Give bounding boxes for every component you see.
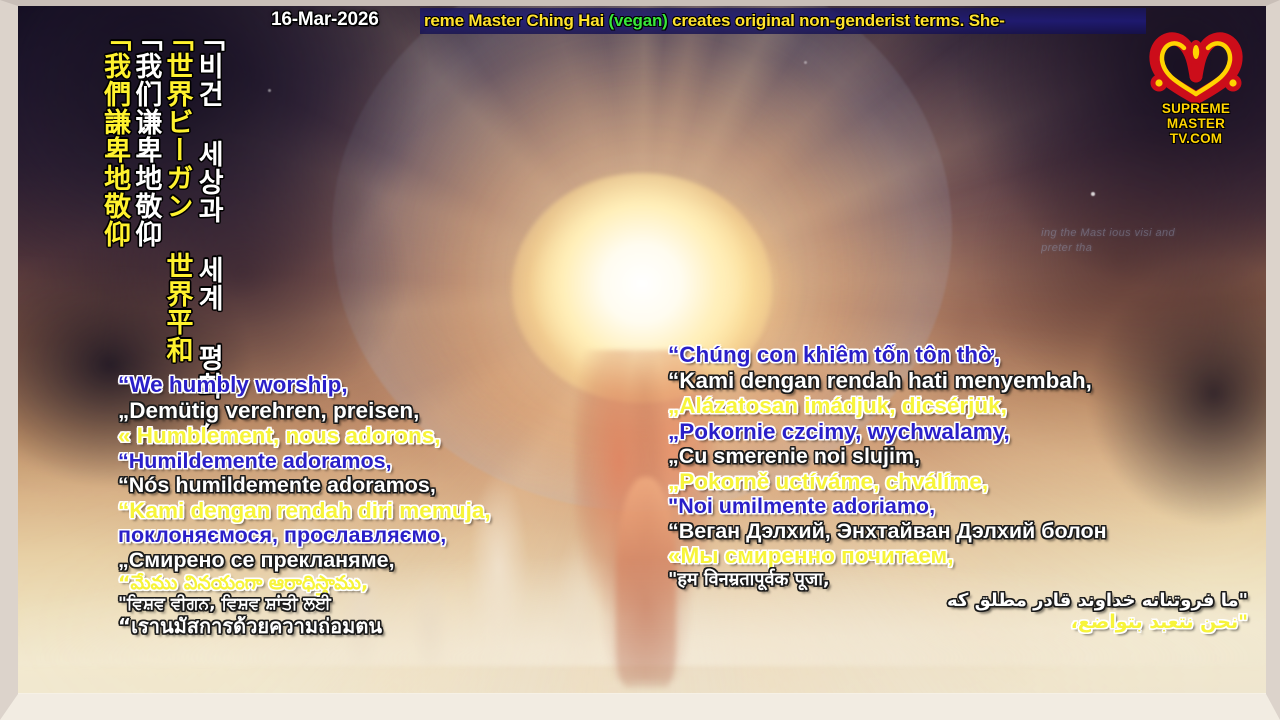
subtitle-line-hungarian: „Alázatosan imádjuk, dicsérjük, — [668, 395, 1248, 418]
logo-line-2: TV.COM — [1132, 131, 1260, 146]
sparkle-icon — [268, 89, 271, 92]
subtitle-line-persian: "ما فروتنانه خداوند قادر مطلق که — [668, 592, 1248, 610]
subtitle-line-polish: „Pokornie czcimy, wychwalamy, — [668, 421, 1248, 444]
subtitle-line-italian: "Noi umilmente adoriamo, — [668, 496, 1248, 518]
subtitle-line-ukrainian: поклоняємося, прославляємо, — [118, 525, 588, 547]
subtitle-line-russian: «Мы смиренно почитаем, — [668, 545, 1248, 568]
subtitle-line-mongolian: “Веган Дэлхий, Энхтайван Дэлхий болон — [668, 521, 1248, 543]
subtitle-line-vietnamese: “Chúng con khiêm tốn tôn thờ, — [668, 344, 1248, 367]
background-faint-text: ing the Mast ious visi and preter tha — [1041, 226, 1191, 296]
vertical-subtitle-chinese-traditional: 「我們謙卑地敬仰 — [100, 24, 129, 272]
subtitle-line-serbian: „Смирено се прекланяме, — [118, 550, 588, 572]
channel-logo[interactable]: SUPREME MASTER TV.COM — [1132, 20, 1260, 148]
subtitle-line-french: « Humblement, nous adorons, — [118, 425, 588, 448]
subtitle-column-left: “We humbly worship, „Demütig verehren, p… — [118, 374, 588, 639]
subtitle-line-czech: „Pokorně uctíváme, chválíme, — [668, 471, 1248, 494]
praying-hands-highlight — [616, 477, 676, 687]
subtitle-line-portuguese: “Nós humildemente adoramos, — [118, 475, 588, 497]
subtitle-line-hindi: "हम विनम्रतापूर्वक पूजा, — [668, 571, 1248, 589]
subtitle-line-indonesian: “Kami dengan rendah hati menyembah, — [668, 370, 1248, 393]
subtitle-line-punjabi: "ਵਿਸ਼ਵ ਵੀਗਨ, ਵਿਸ਼ਵ ਸ਼ਾਂਤੀ ਲਈ — [118, 596, 588, 613]
vertical-subtitle-korean: 「비건 세상과 세계 평화, — [193, 24, 222, 316]
vertical-subtitle-chinese-simplified: 「我们谦卑地敬仰 — [131, 24, 160, 270]
subtitle-line-thai: “เรานมัสการด้วยความถ่อมตน — [118, 616, 588, 636]
subtitle-line-romanian: „Cu smerenie noi slujim, — [668, 446, 1248, 468]
vertical-subtitle-japanese: 「世界ビーガン 世界平和 — [162, 24, 191, 292]
logo-wordmark: SUPREME MASTER TV.COM — [1132, 101, 1260, 146]
video-player-screen: ing the Mast ious visi and preter tha 16… — [0, 0, 1280, 720]
viewer-volume-note: * Dear viewers, please adjust the volume… — [0, 693, 1280, 719]
subtitle-line-spanish: “Humildemente adoramos, — [118, 451, 588, 473]
viewer-volume-note-text: * Dear viewers, please adjust the volume… — [322, 698, 958, 714]
subtitle-line-malay: “Kami dengan rendah diri memuja, — [118, 500, 588, 523]
subtitle-column-right: “Chúng con khiêm tốn tôn thờ, “Kami deng… — [668, 344, 1248, 635]
subtitle-line-telugu: “మేము వినయంగా ఆరాధిస్తాము, — [118, 574, 588, 593]
subtitle-line-german: „Demütig verehren, preisen, — [118, 400, 588, 423]
vertical-subtitle-group: 「비건 세상과 세계 평화, 「世界ビーガン 世界平和 「我们谦卑地敬仰 「我們… — [100, 24, 223, 316]
logo-line-1: SUPREME MASTER — [1132, 101, 1260, 131]
subtitle-line-arabic: "نحن نتعبد بتواضع، — [668, 613, 1248, 632]
video-frame[interactable]: ing the Mast ious visi and preter tha 16… — [18, 6, 1266, 694]
subtitle-line-english: “We humbly worship, — [118, 374, 588, 397]
